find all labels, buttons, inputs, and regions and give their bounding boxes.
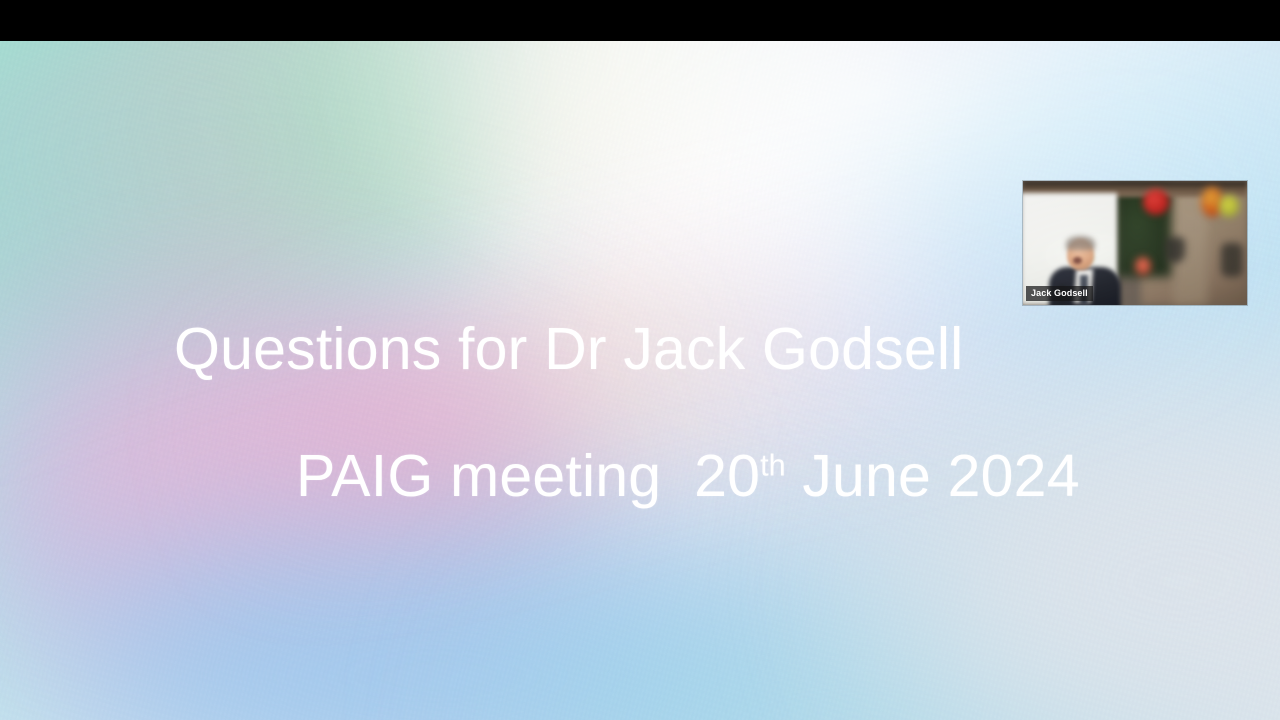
slide-text-layer: Questions for Dr Jack Godsell PAIG meeti… xyxy=(0,41,1280,720)
subline-ordinal-suffix: th xyxy=(760,447,786,482)
slide-headline: Questions for Dr Jack Godsell xyxy=(174,319,963,381)
letterbox-bar-top xyxy=(0,0,1280,41)
video-player-screen: Questions for Dr Jack Godsell PAIG meeti… xyxy=(0,0,1280,720)
presentation-slide: Questions for Dr Jack Godsell PAIG meeti… xyxy=(0,41,1280,720)
subline-day: 20 xyxy=(694,443,760,509)
subline-event: PAIG meeting xyxy=(296,443,661,509)
speaker-name-badge: Jack Godsell xyxy=(1026,286,1093,301)
slide-subline: PAIG meeting 20th June 2024 xyxy=(296,446,1080,508)
subline-month-year: June 2024 xyxy=(802,443,1079,509)
speaker-video-thumbnail[interactable]: Jack Godsell xyxy=(1023,181,1247,305)
